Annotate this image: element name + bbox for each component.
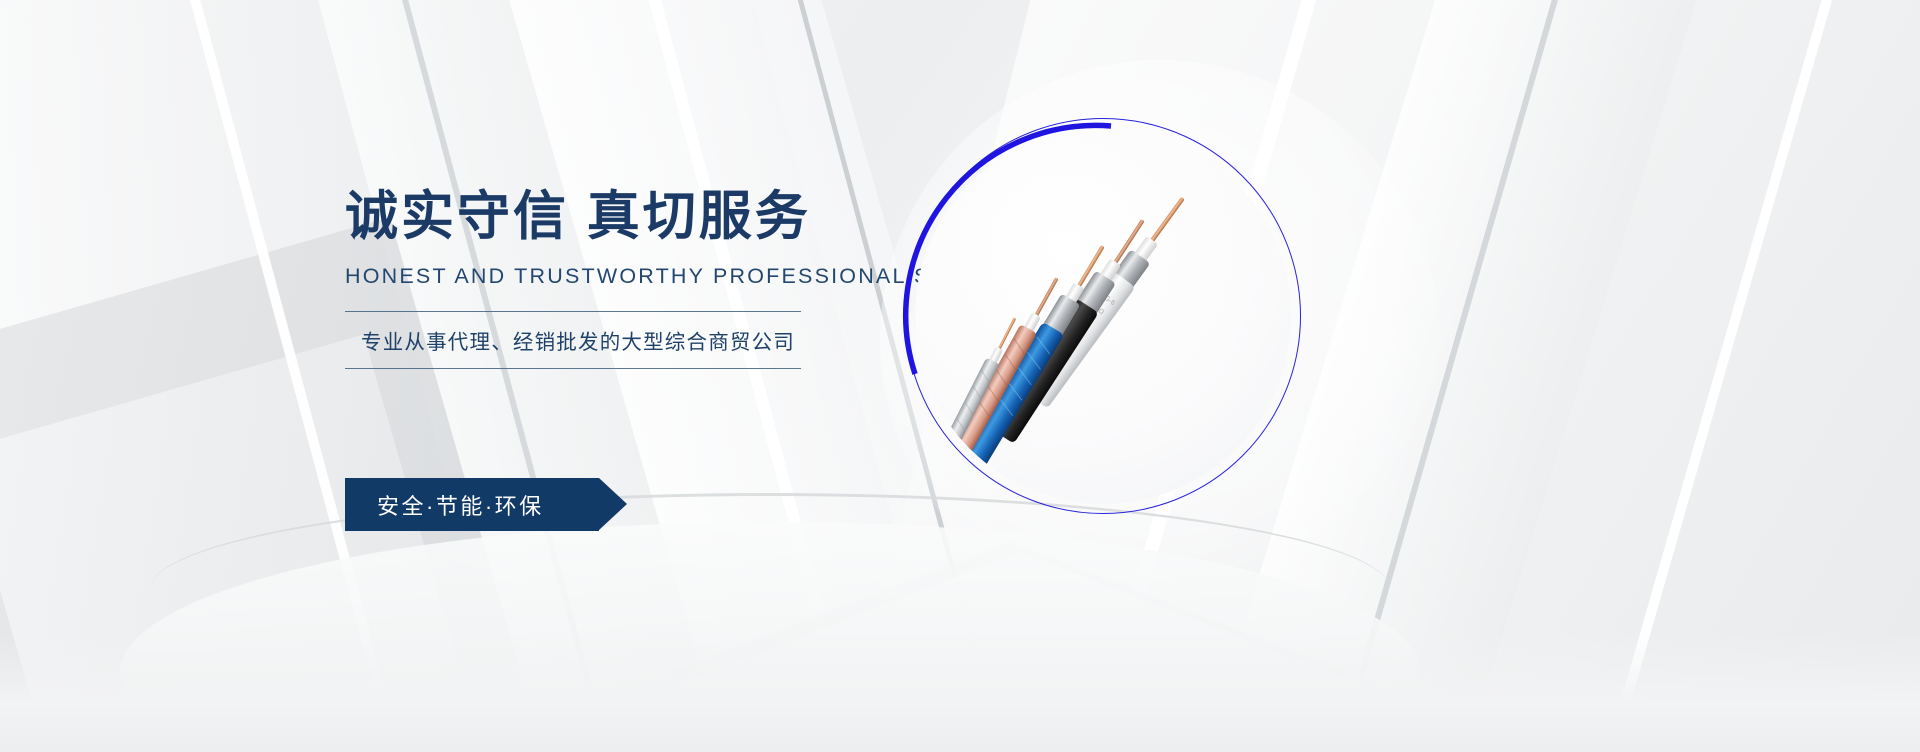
product-photo-circle: RG-6 75Ω [905, 118, 1305, 518]
hero-headline: 诚实守信 真切服务 [345, 185, 905, 250]
bg-floor-band [0, 632, 1920, 752]
hero-banner: 诚实守信 真切服务 HONEST AND TRUSTWORTHY PROFESS… [0, 0, 1920, 752]
feature-badge[interactable]: 安全·节能·环保 [345, 478, 599, 531]
blue-arc-accent-icon [899, 112, 1307, 520]
hero-subheadline: HONEST AND TRUSTWORTHY PROFESSIONAL SERV… [345, 264, 905, 289]
divider-top [345, 311, 801, 312]
hero-text-block: 诚实守信 真切服务 HONEST AND TRUSTWORTHY PROFESS… [345, 185, 905, 369]
divider-bottom [345, 368, 801, 369]
feature-badge-arrow-icon [599, 478, 627, 530]
tagline-group: 专业从事代理、经销批发的大型综合商贸公司 [345, 311, 801, 369]
feature-badge-label: 安全·节能·环保 [345, 489, 544, 521]
hero-tagline: 专业从事代理、经销批发的大型综合商贸公司 [345, 312, 801, 368]
